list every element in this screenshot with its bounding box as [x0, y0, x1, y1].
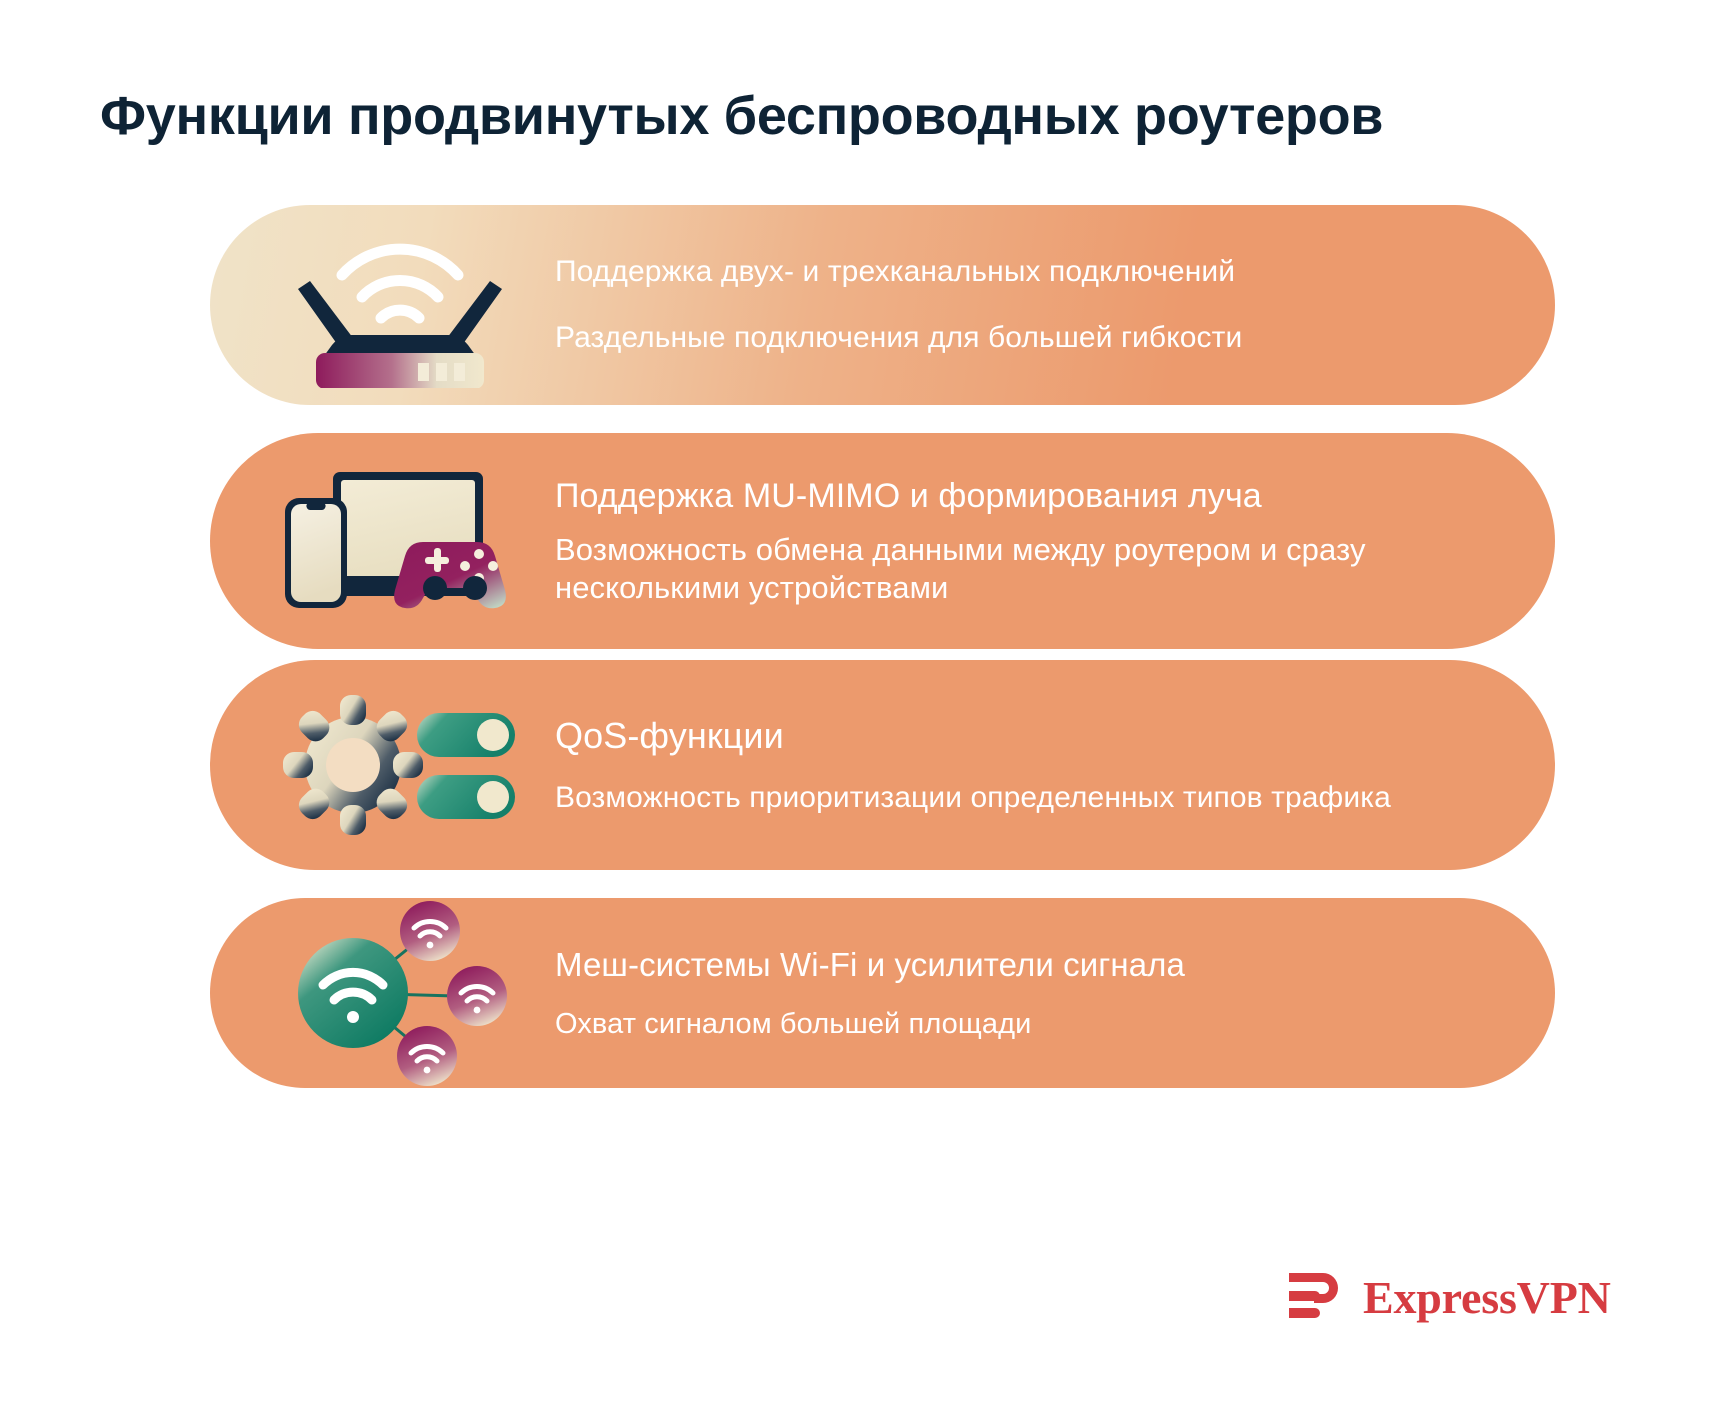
multi-devices-icon: [265, 433, 535, 649]
mesh-network-icon: [265, 898, 535, 1088]
card-heading: Поддержка двух- и трехканальных подключе…: [555, 253, 1515, 291]
feature-card-qos: QoS-функции Возможность приоритизации оп…: [210, 660, 1555, 870]
infographic-page: Функции продвинутых беспроводных роутеро…: [0, 0, 1709, 1409]
card-text-block: QoS-функции Возможность приоритизации оп…: [555, 660, 1515, 870]
feature-card-dual-band: Поддержка двух- и трехканальных подключе…: [210, 205, 1555, 405]
card-subtitle: Раздельные подключения для большей гибко…: [555, 320, 1515, 357]
gear-toggles-icon: [265, 660, 535, 870]
card-subtitle: Возможность обмена данными между роутеро…: [555, 531, 1515, 607]
card-subtitle: Охват сигналом большей площади: [555, 1007, 1515, 1042]
feature-card-mu-mimo: Поддержка MU-MIMO и формирования луча Во…: [210, 433, 1555, 649]
expressvpn-logo-mark: [1285, 1268, 1347, 1326]
card-text-block: Меш-системы Wi-Fi и усилители сигнала Ох…: [555, 898, 1515, 1088]
card-text-block: Поддержка MU-MIMO и формирования луча Во…: [555, 433, 1515, 649]
feature-card-mesh: Меш-системы Wi-Fi и усилители сигнала Ох…: [210, 898, 1555, 1088]
toggle-switch-on-bottom: [417, 775, 515, 819]
expressvpn-logo: ExpressVPN: [1285, 1268, 1611, 1326]
card-subtitle: Возможность приоритизации определенных т…: [555, 780, 1515, 817]
card-heading: Поддержка MU-MIMO и формирования луча: [555, 475, 1515, 518]
page-title: Функции продвинутых беспроводных роутеро…: [100, 85, 1383, 147]
toggle-switch-on-top: [417, 713, 515, 757]
card-text-block: Поддержка двух- и трехканальных подключе…: [555, 205, 1515, 405]
logo-wordmark: ExpressVPN: [1363, 1271, 1611, 1324]
card-heading: QoS-функции: [555, 713, 1515, 758]
wireless-router-icon: [265, 205, 535, 405]
card-heading: Меш-системы Wi-Fi и усилители сигнала: [555, 944, 1515, 985]
